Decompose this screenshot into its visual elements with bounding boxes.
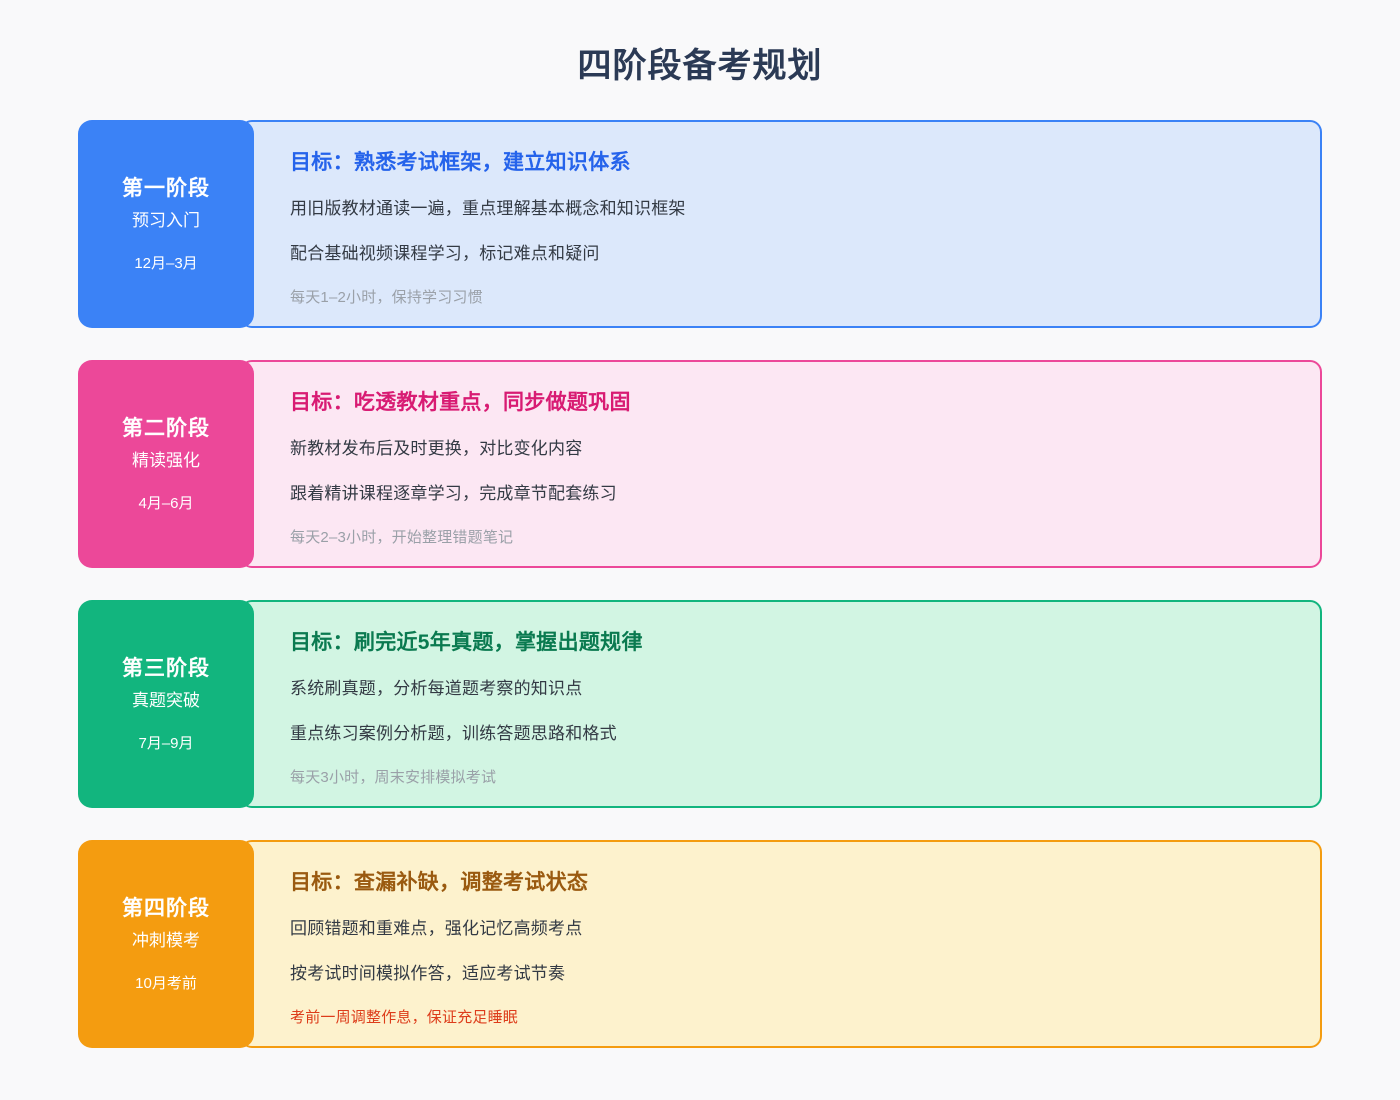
study-plan-page: 四阶段备考规划 第一阶段 预习入门 12月–3月 目标：熟悉考试框架，建立知识体… [0,0,1400,1100]
phase-task: 回顾错题和重难点，强化记忆高频考点 [290,916,1280,942]
phase-badge-subtitle: 冲刺模考 [132,930,200,952]
phase-badge-subtitle: 预习入门 [132,210,200,232]
phase-row: 第二阶段 精读强化 4月–6月 目标：吃透教材重点，同步做题巩固 新教材发布后及… [78,360,1322,568]
phase-goal: 目标：查漏补缺，调整考试状态 [290,868,1280,897]
phase-panel-4: 目标：查漏补缺，调整考试状态 回顾错题和重难点，强化记忆高频考点 按考试时间模拟… [240,840,1322,1048]
phase-note: 考前一周调整作息，保证充足睡眠 [290,1007,1280,1028]
phase-badge-subtitle: 真题突破 [132,690,200,712]
phase-badge-2[interactable]: 第二阶段 精读强化 4月–6月 [78,360,254,568]
phase-goal: 目标：熟悉考试框架，建立知识体系 [290,148,1280,177]
phase-badge-title: 第一阶段 [122,175,210,202]
phase-badge-title: 第三阶段 [122,655,210,682]
phase-goal: 目标：刷完近5年真题，掌握出题规律 [290,628,1280,657]
phase-panel-3: 目标：刷完近5年真题，掌握出题规律 系统刷真题，分析每道题考察的知识点 重点练习… [240,600,1322,808]
phase-badge-period: 7月–9月 [138,734,193,754]
phase-badge-period: 12月–3月 [134,254,197,274]
phase-row: 第三阶段 真题突破 7月–9月 目标：刷完近5年真题，掌握出题规律 系统刷真题，… [78,600,1322,808]
page-title: 四阶段备考规划 [0,0,1400,87]
phase-panel-content: 目标：查漏补缺，调整考试状态 回顾错题和重难点，强化记忆高频考点 按考试时间模拟… [282,868,1280,1027]
phase-badge-period: 4月–6月 [138,494,193,514]
phase-panel-2: 目标：吃透教材重点，同步做题巩固 新教材发布后及时更换，对比变化内容 跟着精讲课… [240,360,1322,568]
phase-panel-content: 目标：吃透教材重点，同步做题巩固 新教材发布后及时更换，对比变化内容 跟着精讲课… [282,388,1280,547]
phase-badge-title: 第四阶段 [122,895,210,922]
phase-task: 系统刷真题，分析每道题考察的知识点 [290,676,1280,702]
phase-task: 配合基础视频课程学习，标记难点和疑问 [290,241,1280,267]
phase-panel-content: 目标：刷完近5年真题，掌握出题规律 系统刷真题，分析每道题考察的知识点 重点练习… [282,628,1280,787]
phase-panel-1: 目标：熟悉考试框架，建立知识体系 用旧版教材通读一遍，重点理解基本概念和知识框架… [240,120,1322,328]
phase-row: 第一阶段 预习入门 12月–3月 目标：熟悉考试框架，建立知识体系 用旧版教材通… [78,120,1322,328]
phase-note: 每天2–3小时，开始整理错题笔记 [290,527,1280,548]
phase-badge-4[interactable]: 第四阶段 冲刺模考 10月考前 [78,840,254,1048]
phase-task: 新教材发布后及时更换，对比变化内容 [290,436,1280,462]
phase-goal: 目标：吃透教材重点，同步做题巩固 [290,388,1280,417]
phase-task: 重点练习案例分析题，训练答题思路和格式 [290,721,1280,747]
phase-badge-title: 第二阶段 [122,415,210,442]
phase-badge-3[interactable]: 第三阶段 真题突破 7月–9月 [78,600,254,808]
phase-badge-subtitle: 精读强化 [132,450,200,472]
phase-badge-period: 10月考前 [135,974,197,994]
phase-badge-1[interactable]: 第一阶段 预习入门 12月–3月 [78,120,254,328]
phase-note: 每天1–2小时，保持学习习惯 [290,287,1280,308]
phase-row: 第四阶段 冲刺模考 10月考前 目标：查漏补缺，调整考试状态 回顾错题和重难点，… [78,840,1322,1048]
phase-task: 按考试时间模拟作答，适应考试节奏 [290,961,1280,987]
phase-task: 跟着精讲课程逐章学习，完成章节配套练习 [290,481,1280,507]
phase-timeline: 第一阶段 预习入门 12月–3月 目标：熟悉考试框架，建立知识体系 用旧版教材通… [0,120,1400,1048]
phase-panel-content: 目标：熟悉考试框架，建立知识体系 用旧版教材通读一遍，重点理解基本概念和知识框架… [282,148,1280,307]
phase-task: 用旧版教材通读一遍，重点理解基本概念和知识框架 [290,196,1280,222]
phase-note: 每天3小时，周末安排模拟考试 [290,767,1280,788]
